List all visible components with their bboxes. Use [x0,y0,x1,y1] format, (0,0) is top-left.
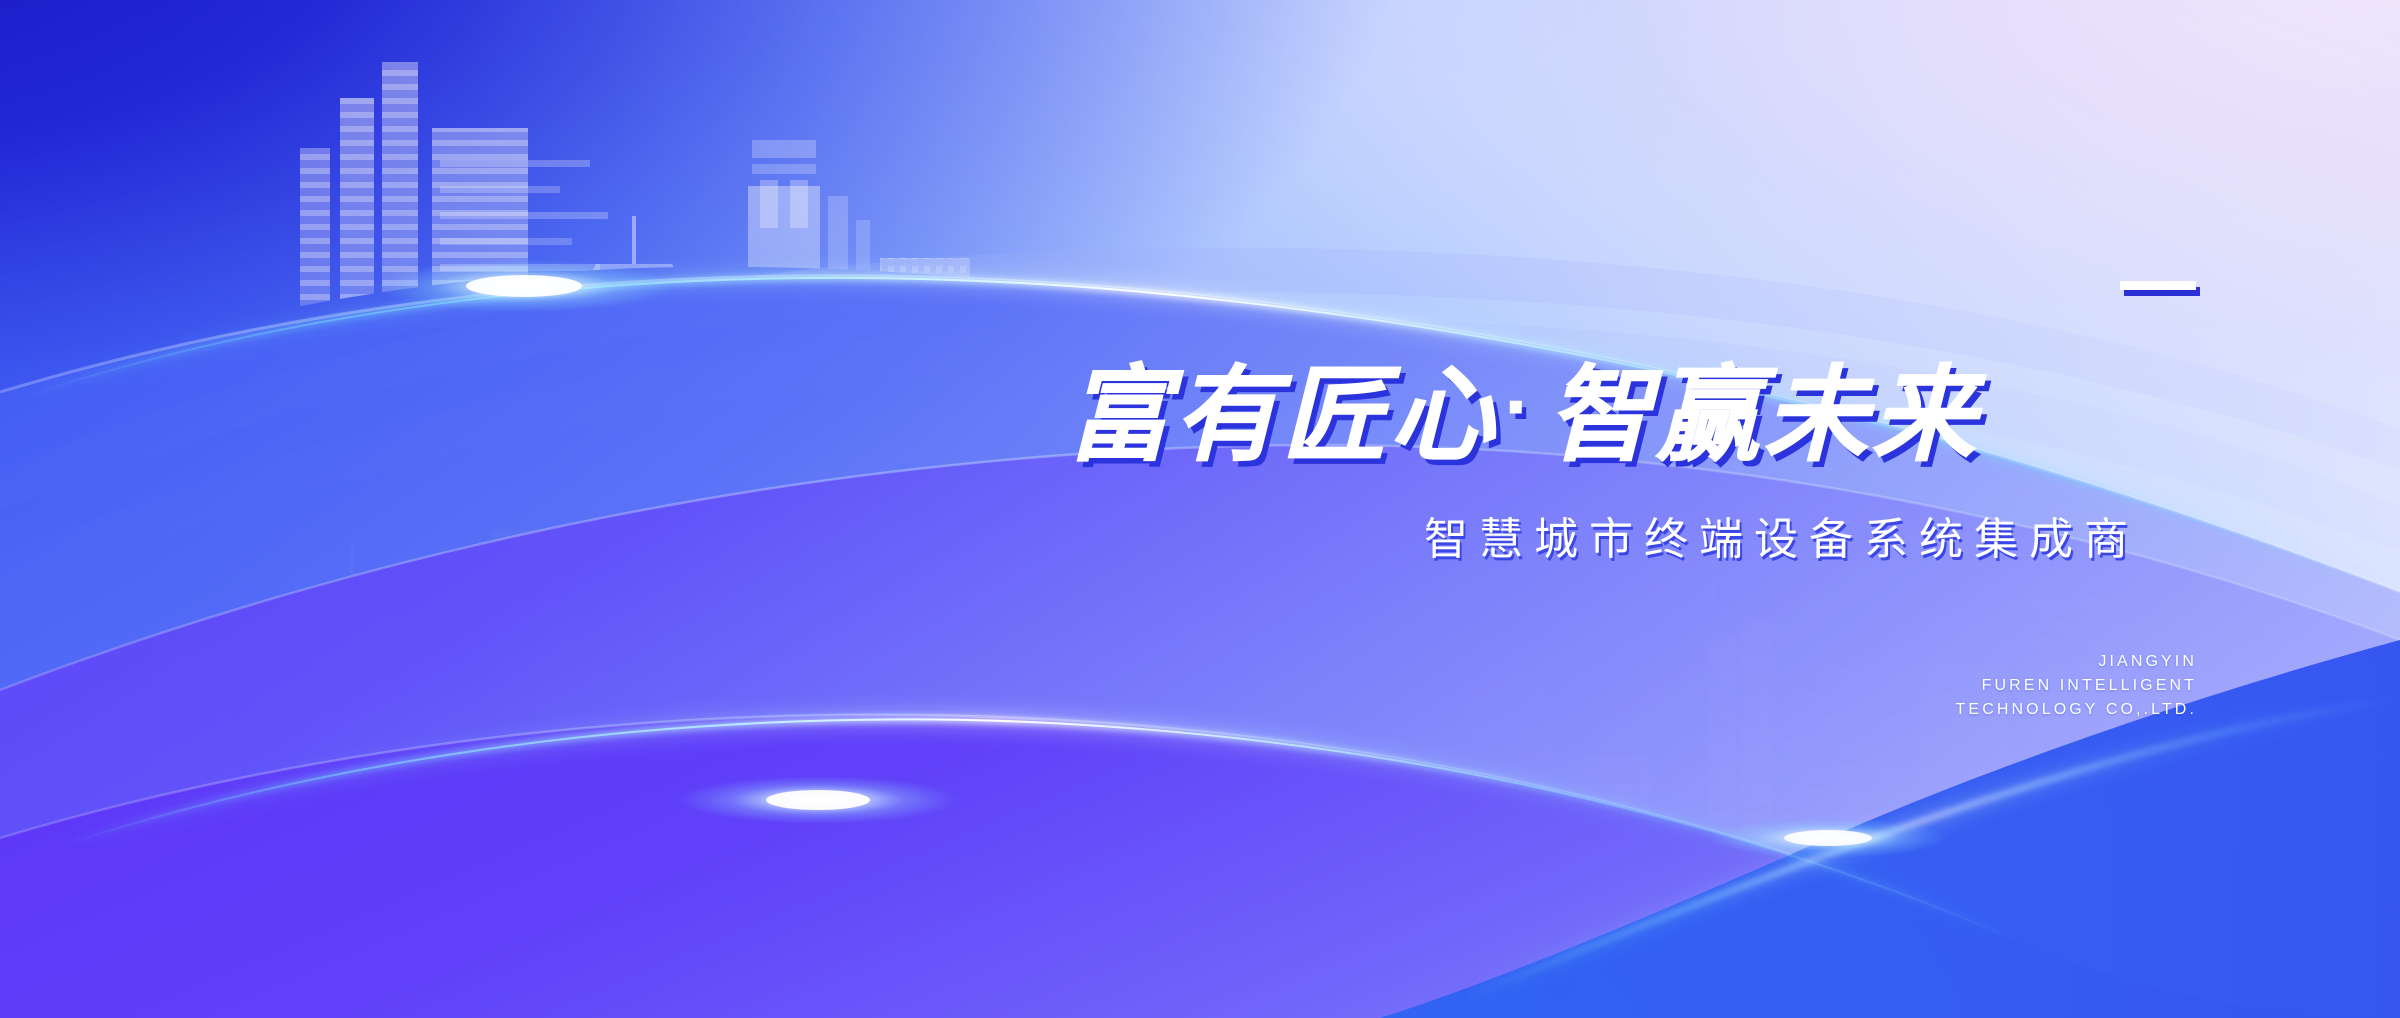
banner-canvas: 富有匠心·智赢未来 智慧城市终端设备系统集成商 JIANGYIN FUREN I… [0,0,2400,1018]
vignette-overlay [0,0,2400,1018]
